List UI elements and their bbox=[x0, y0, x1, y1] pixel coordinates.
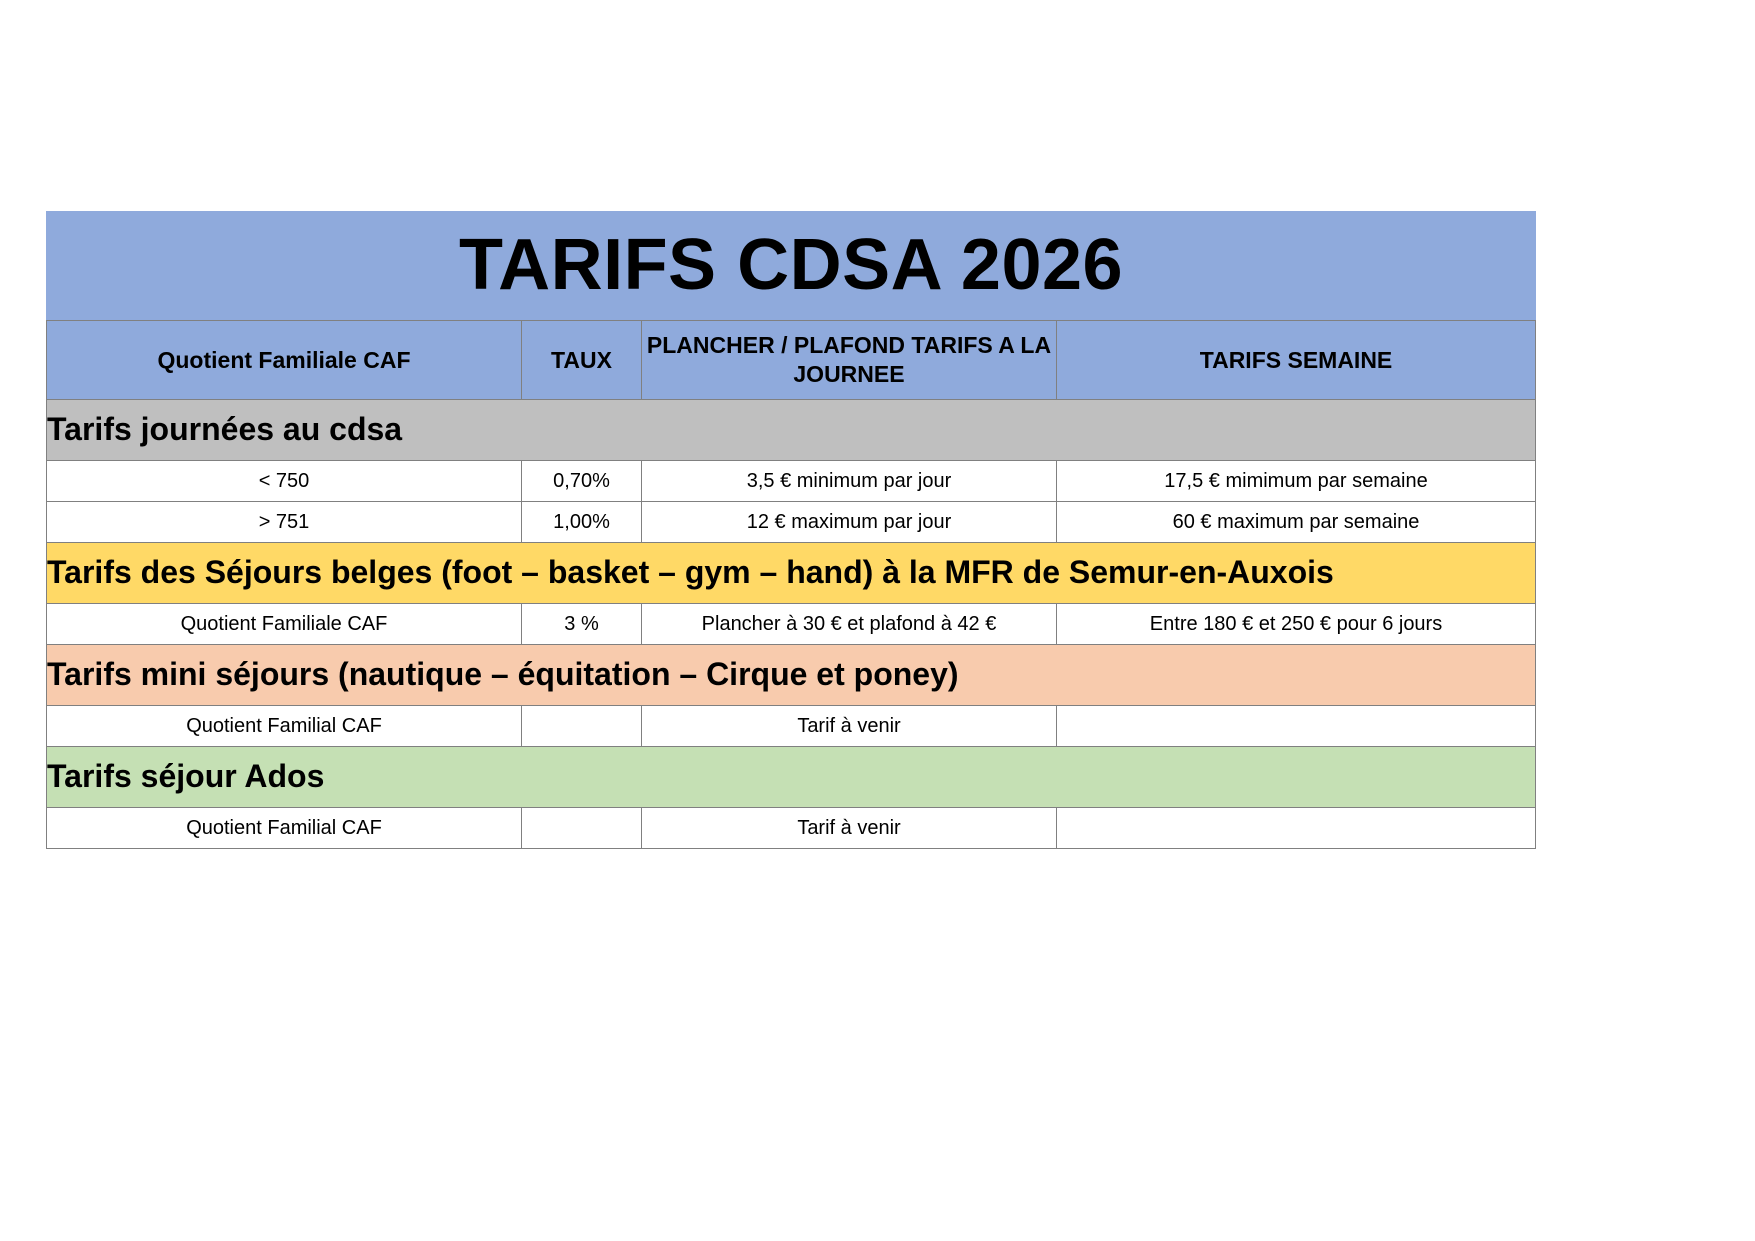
section-row: Tarifs séjour Ados bbox=[47, 747, 1536, 808]
section-header-mini-sejours: Tarifs mini séjours (nautique – équitati… bbox=[47, 645, 1536, 706]
section-header-journees-cdsa: Tarifs journées au cdsa bbox=[47, 400, 1536, 461]
page-title: TARIFS CDSA 2026 bbox=[459, 225, 1123, 305]
cell-sejours-belges-semaine: Entre 180 € et 250 € pour 6 jours bbox=[1057, 604, 1536, 645]
section-header-sejour-ados: Tarifs séjour Ados bbox=[47, 747, 1536, 808]
section-header-sejours-belges: Tarifs des Séjours belges (foot – basket… bbox=[47, 543, 1536, 604]
cell-mini-sejours-journee: Tarif à venir bbox=[642, 706, 1057, 747]
cell-journees-cdsa-quotient: > 751 bbox=[47, 502, 522, 543]
cell-mini-sejours-quotient: Quotient Familial CAF bbox=[47, 706, 522, 747]
cell-mini-sejours-taux bbox=[522, 706, 642, 747]
section-row: Tarifs des Séjours belges (foot – basket… bbox=[47, 543, 1536, 604]
cell-mini-sejours-semaine bbox=[1057, 706, 1536, 747]
cell-sejour-ados-journee: Tarif à venir bbox=[642, 808, 1057, 849]
title-row: TARIFS CDSA 2026 bbox=[47, 212, 1536, 321]
cell-journees-cdsa-semaine: 17,5 € mimimum par semaine bbox=[1057, 461, 1536, 502]
table-row: < 7500,70%3,5 € minimum par jour17,5 € m… bbox=[47, 461, 1536, 502]
cell-journees-cdsa-journee: 12 € maximum par jour bbox=[642, 502, 1057, 543]
section-row: Tarifs journées au cdsa bbox=[47, 400, 1536, 461]
cell-sejour-ados-quotient: Quotient Familial CAF bbox=[47, 808, 522, 849]
document-title-cell: TARIFS CDSA 2026 bbox=[47, 212, 1536, 321]
tarifs-table-body: TARIFS CDSA 2026 Quotient Familiale CAF … bbox=[47, 212, 1536, 849]
column-header-quotient: Quotient Familiale CAF bbox=[47, 321, 522, 400]
table-row: Quotient Familiale CAF3 %Plancher à 30 €… bbox=[47, 604, 1536, 645]
cell-journees-cdsa-quotient: < 750 bbox=[47, 461, 522, 502]
cell-journees-cdsa-semaine: 60 € maximum par semaine bbox=[1057, 502, 1536, 543]
cell-sejours-belges-taux: 3 % bbox=[522, 604, 642, 645]
cell-sejours-belges-journee: Plancher à 30 € et plafond à 42 € bbox=[642, 604, 1057, 645]
tarifs-table: TARIFS CDSA 2026 Quotient Familiale CAF … bbox=[46, 211, 1536, 849]
cell-sejour-ados-taux bbox=[522, 808, 642, 849]
tarifs-sheet: TARIFS CDSA 2026 Quotient Familiale CAF … bbox=[46, 211, 1535, 849]
column-header-journee: PLANCHER / PLAFOND TARIFS A LA JOURNEE bbox=[642, 321, 1057, 400]
section-row: Tarifs mini séjours (nautique – équitati… bbox=[47, 645, 1536, 706]
table-row: > 7511,00%12 € maximum par jour60 € maxi… bbox=[47, 502, 1536, 543]
column-header-taux: TAUX bbox=[522, 321, 642, 400]
cell-sejours-belges-quotient: Quotient Familiale CAF bbox=[47, 604, 522, 645]
cell-journees-cdsa-taux: 1,00% bbox=[522, 502, 642, 543]
column-header-semaine: TARIFS SEMAINE bbox=[1057, 321, 1536, 400]
table-row: Quotient Familial CAFTarif à venir bbox=[47, 706, 1536, 747]
cell-journees-cdsa-journee: 3,5 € minimum par jour bbox=[642, 461, 1057, 502]
cell-sejour-ados-semaine bbox=[1057, 808, 1536, 849]
table-row: Quotient Familial CAFTarif à venir bbox=[47, 808, 1536, 849]
cell-journees-cdsa-taux: 0,70% bbox=[522, 461, 642, 502]
column-header-row: Quotient Familiale CAF TAUX PLANCHER / P… bbox=[47, 321, 1536, 400]
